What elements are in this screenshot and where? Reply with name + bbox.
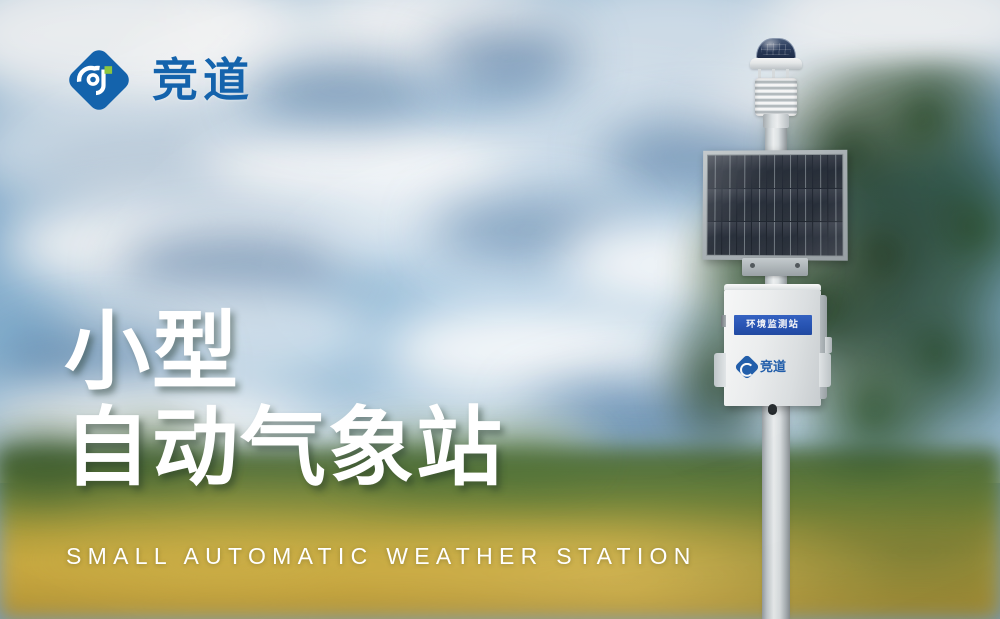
cloud-shape <box>200 110 520 220</box>
brand-logo[interactable]: 竞道 <box>66 47 254 113</box>
cloud-shape <box>430 200 630 260</box>
subtitle-text: SMALL AUTOMATIC WEATHER STATION <box>66 543 697 570</box>
tree-foliage-mid <box>650 180 850 480</box>
cloud-shape <box>250 60 430 120</box>
headline-block: 小型 自动气象站 <box>64 306 504 494</box>
cloud-shape <box>40 130 280 210</box>
logo-glyph <box>66 47 132 113</box>
cloud-shape <box>430 30 580 85</box>
weather-station-banner: 环境监测站 竞道 竞道 <box>0 0 1000 619</box>
cloud-shape <box>0 190 360 300</box>
cloud-shape <box>300 0 560 90</box>
headline-line-1: 小型 <box>64 306 504 398</box>
cloud-shape <box>170 0 330 50</box>
cloud-shape <box>120 235 350 305</box>
cloud-shape <box>330 170 630 290</box>
headline-line-2: 自动气象站 <box>64 402 504 494</box>
brand-name: 竞道 <box>152 57 254 103</box>
jingdao-diamond-logo-icon <box>66 47 132 113</box>
